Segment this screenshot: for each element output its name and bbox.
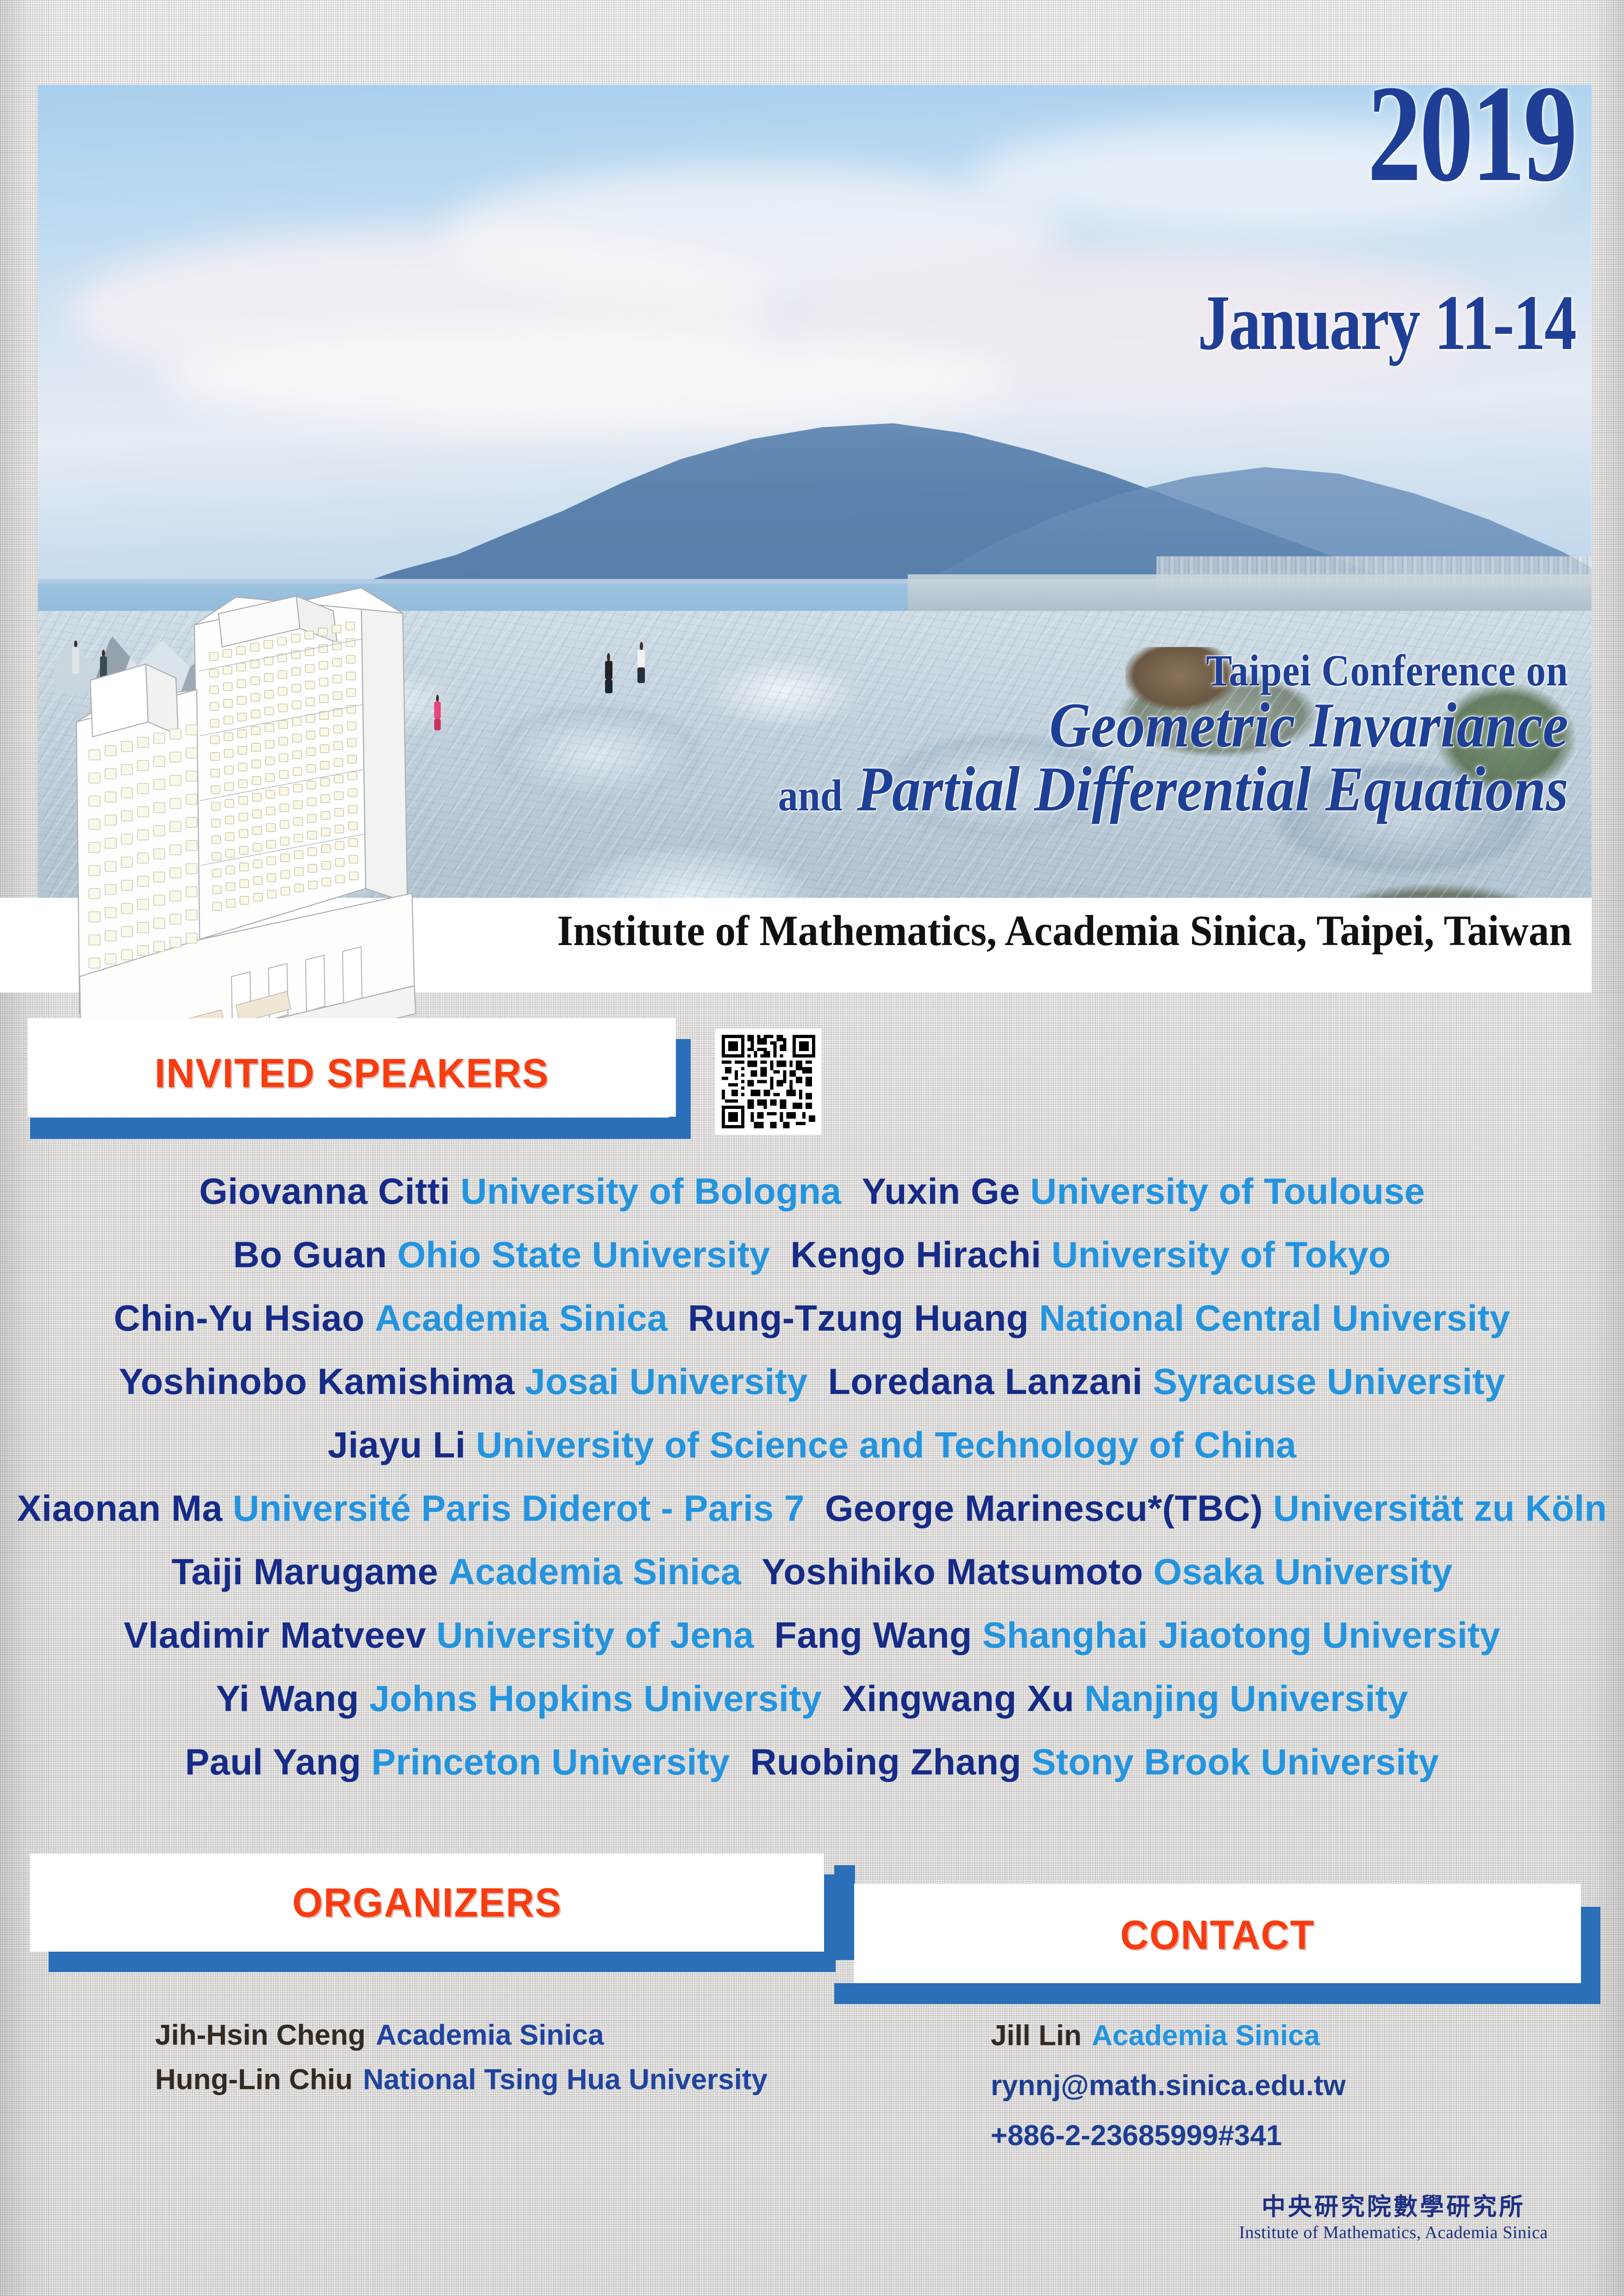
speaker-row: Taiji MarugameAcademia SinicaYoshihiko M… <box>0 1540 1624 1603</box>
speaker-row: Yoshinobo KamishimaJosai UniversityLored… <box>0 1350 1624 1413</box>
person-legs <box>605 679 612 693</box>
header-accent-bar-right <box>1580 1907 1600 1985</box>
contact-label: CONTACT <box>868 1911 1566 1959</box>
person-body <box>637 650 645 667</box>
title-line-1: Taipei Conference on <box>796 648 1568 693</box>
person-figure <box>637 650 645 683</box>
organizer-name: Jih-Hsin Cheng <box>155 2019 366 2051</box>
speaker-name: George Marinescu*(TBC) <box>825 1487 1263 1529</box>
speaker-name: Yuxin Ge <box>862 1170 1020 1212</box>
person-head <box>436 695 439 702</box>
title-line-3: and Partial Differential Equations <box>778 757 1568 821</box>
speaker-affiliation: National Central University <box>1039 1297 1510 1338</box>
speaker-name: Vladimir Matveev <box>124 1614 426 1655</box>
speakers-list: Giovanna CittiUniversity of BolognaYuxin… <box>0 1159 1624 1793</box>
organizers-label: ORGANIZERS <box>46 1879 808 1926</box>
speaker-affiliation: Ohio State University <box>397 1234 770 1275</box>
person-head <box>640 642 643 651</box>
speaker-affiliation: Syracuse University <box>1153 1361 1505 1402</box>
speaker-affiliation: Université Paris Diderot - Paris 7 <box>233 1487 805 1529</box>
speaker-row: Jiayu LiUniversity of Science and Techno… <box>0 1413 1624 1476</box>
speaker-row: Vladimir MatveevUniversity of JenaFang W… <box>0 1603 1624 1667</box>
speaker-affiliation: University of Toulouse <box>1031 1170 1425 1212</box>
person-legs <box>637 667 645 684</box>
header-accent-bar-bottom <box>834 1983 1600 2004</box>
contact-affiliation: Academia Sinica <box>1092 2020 1320 2052</box>
conference-title: Taipei Conference on Geometric Invarianc… <box>690 648 1568 821</box>
speaker-name: Yoshinobo Kamishima <box>119 1361 515 1402</box>
header-accent-bar-left <box>834 1865 855 1960</box>
speaker-row: Yi WangJohns Hopkins UniversityXingwang … <box>0 1667 1624 1730</box>
contact-name: Jill Lin <box>991 2020 1081 2052</box>
speaker-affiliation: Shanghai Jiaotong University <box>982 1614 1500 1655</box>
cloud <box>162 330 1017 429</box>
speaker-affiliation: Josai University <box>525 1361 808 1402</box>
organizers-list: Jih-Hsin ChengAcademia SinicaHung-Lin Ch… <box>155 2013 768 2102</box>
speaker-affiliation: Nanjing University <box>1085 1678 1408 1719</box>
speaker-affiliation: University of Jena <box>437 1614 754 1655</box>
person-body <box>605 661 612 680</box>
speaker-row: Paul YangPrinceton UniversityRuobing Zha… <box>0 1730 1624 1793</box>
header-accent-bar-bottom <box>30 1118 691 1139</box>
speaker-affiliation: Osaka University <box>1154 1551 1453 1592</box>
speaker-row: Xiaonan MaUniversité Paris Diderot - Par… <box>0 1476 1624 1540</box>
speaker-name: Yoshihiko Matsumoto <box>762 1551 1143 1592</box>
speaker-name: Kengo Hirachi <box>790 1234 1041 1275</box>
organizer-row: Jih-Hsin ChengAcademia Sinica <box>155 2013 768 2058</box>
organizer-affiliation: National Tsing Hua University <box>363 2064 768 2096</box>
speaker-name: Rung-Tzung Huang <box>688 1297 1029 1338</box>
contact-person-row: Jill LinAcademia Sinica <box>991 2011 1346 2061</box>
speaker-affiliation: Academia Sinica <box>375 1297 668 1338</box>
speaker-name: Xiaonan Ma <box>17 1487 223 1529</box>
organizer-row: Hung-Lin ChiuNational Tsing Hua Universi… <box>155 2058 768 2102</box>
speaker-affiliation: Universität zu Köln <box>1273 1487 1607 1529</box>
speaker-affiliation: Johns Hopkins University <box>369 1678 822 1719</box>
institute-logo: 中央研究院數學研究所 Institute of Mathematics, Aca… <box>1204 2194 1583 2244</box>
speaker-name: Bo Guan <box>233 1234 387 1275</box>
speaker-affiliation: Stony Brook University <box>1031 1741 1439 1782</box>
title-and: and <box>778 771 843 820</box>
speaker-name: Giovanna Citti <box>199 1170 450 1212</box>
qr-code-icon[interactable] <box>715 1028 822 1135</box>
speaker-name: Chin-Yu Hsiao <box>114 1297 365 1338</box>
year-text: 2019 <box>1368 69 1575 197</box>
contact-details: Jill LinAcademia Sinica rynnj@math.sinic… <box>991 2011 1346 2161</box>
speaker-affiliation: University of Science and Technology of … <box>476 1424 1296 1465</box>
speaker-affiliation: Academia Sinica <box>449 1551 741 1592</box>
header-accent-bar-bottom <box>49 1951 836 1972</box>
speaker-name: Taiji Marugame <box>171 1551 438 1592</box>
speaker-name: Loredana Lanzani <box>828 1361 1143 1402</box>
organizer-affiliation: Academia Sinica <box>376 2019 604 2051</box>
speaker-affiliation: University of Tokyo <box>1052 1234 1391 1275</box>
person-figure <box>605 661 612 693</box>
speaker-affiliation: University of Bologna <box>461 1170 842 1212</box>
speaker-name: Xingwang Xu <box>842 1678 1074 1719</box>
invited-speakers-label: INVITED SPEAKERS <box>41 1050 663 1097</box>
dates-text: January 11-14 <box>1198 278 1575 368</box>
contact-phone: +886-2-23685999#341 <box>991 2111 1346 2161</box>
organizer-name: Hung-Lin Chiu <box>155 2064 353 2096</box>
title-line-2: Geometric Invariance <box>778 693 1568 757</box>
speaker-name: Ruobing Zhang <box>750 1741 1022 1782</box>
speaker-name: Fang Wang <box>775 1614 972 1655</box>
contact-email[interactable]: rynnj@math.sinica.edu.tw <box>991 2061 1346 2111</box>
institute-name-chinese: 中央研究院數學研究所 <box>1204 2194 1583 2221</box>
speaker-row: Chin-Yu HsiaoAcademia SinicaRung-Tzung H… <box>0 1286 1624 1350</box>
speaker-row: Bo GuanOhio State UniversityKengo Hirach… <box>0 1223 1624 1286</box>
speaker-name: Paul Yang <box>185 1741 362 1782</box>
title-line-3-text: Partial Differential Equations <box>857 753 1568 824</box>
speaker-row: Giovanna CittiUniversity of BolognaYuxin… <box>0 1159 1624 1223</box>
speaker-affiliation: Princeton University <box>371 1741 730 1782</box>
speaker-name: Jiayu Li <box>328 1424 466 1465</box>
institute-name-english: Institute of Mathematics, Academia Sinic… <box>1204 2221 1583 2244</box>
speaker-name: Yi Wang <box>216 1678 359 1719</box>
